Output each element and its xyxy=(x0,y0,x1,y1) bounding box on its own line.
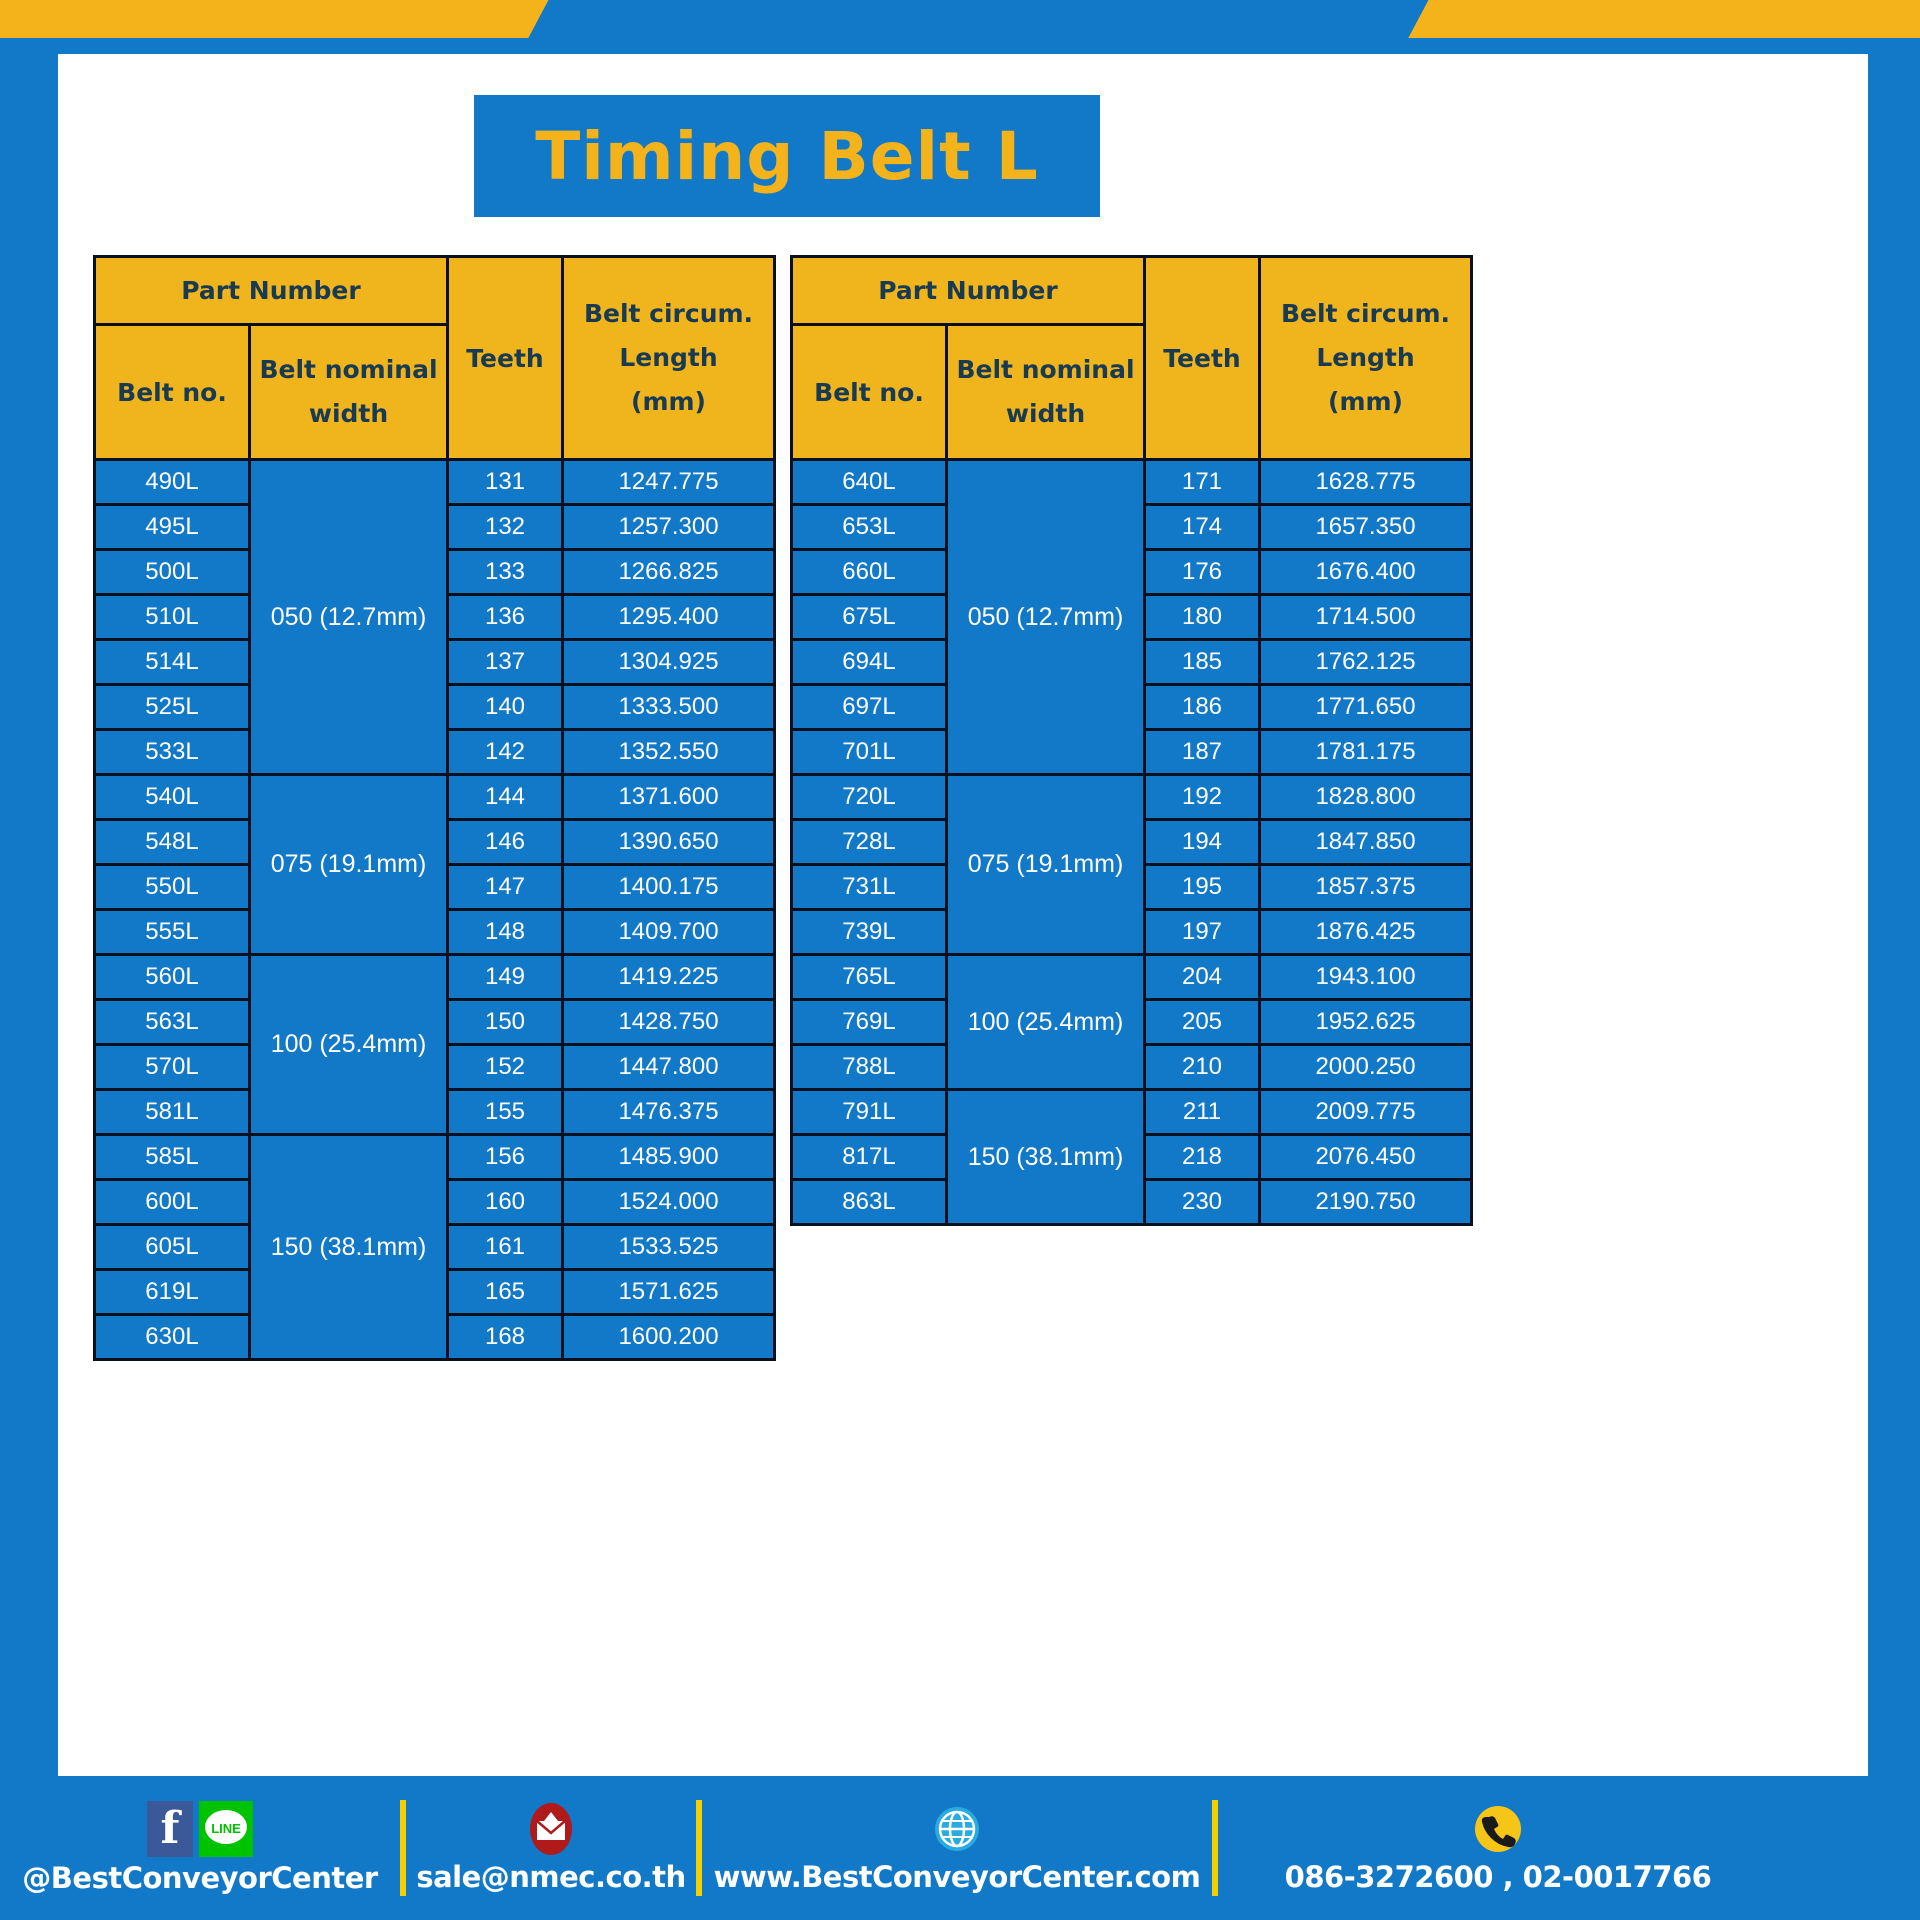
timing-belt-table-right: Part Number Teeth Belt circum. Length (m… xyxy=(790,255,1473,1226)
cell-teeth: 205 xyxy=(1145,1000,1260,1045)
cell-length: 1828.800 xyxy=(1260,775,1472,820)
cell-length: 1409.700 xyxy=(563,910,775,955)
cell-belt-nominal-width: 150 (38.1mm) xyxy=(947,1090,1145,1225)
cell-belt-no: 731L xyxy=(792,865,947,910)
cell-belt-no: 548L xyxy=(95,820,250,865)
cell-belt-nominal-width: 075 (19.1mm) xyxy=(947,775,1145,955)
cell-belt-no: 817L xyxy=(792,1135,947,1180)
cell-teeth: 150 xyxy=(448,1000,563,1045)
cell-belt-no: 555L xyxy=(95,910,250,955)
cell-teeth: 194 xyxy=(1145,820,1260,865)
email-icon[interactable] xyxy=(524,1802,578,1856)
top-chevron-decoration xyxy=(0,0,1920,50)
cell-length: 1943.100 xyxy=(1260,955,1472,1000)
cell-teeth: 186 xyxy=(1145,685,1260,730)
facebook-icon[interactable]: f xyxy=(147,1801,193,1857)
cell-length: 1257.300 xyxy=(563,505,775,550)
cell-teeth: 211 xyxy=(1145,1090,1260,1135)
cell-belt-no: 495L xyxy=(95,505,250,550)
cell-length: 1847.850 xyxy=(1260,820,1472,865)
poster-page: Timing Belt L Part Number Teeth Belt cir… xyxy=(0,0,1920,1920)
footer-social-group[interactable]: f LINE @BestConveyorCenter xyxy=(0,1801,400,1895)
table-right-body: 640L050 (12.7mm)1711628.775653L1741657.3… xyxy=(792,460,1472,1225)
cell-length: 1600.200 xyxy=(563,1315,775,1360)
header-belt-circum-line1: Belt circum. xyxy=(564,292,773,336)
social-handle-label: @BestConveyorCenter xyxy=(22,1861,377,1895)
cell-teeth: 210 xyxy=(1145,1045,1260,1090)
cell-belt-no: 563L xyxy=(95,1000,250,1045)
website-label: www.BestConveyorCenter.com xyxy=(714,1860,1201,1894)
cell-length: 1857.375 xyxy=(1260,865,1472,910)
cell-belt-nominal-width: 050 (12.7mm) xyxy=(947,460,1145,775)
cell-length: 1476.375 xyxy=(563,1090,775,1135)
header-belt-no: Belt no. xyxy=(792,325,947,460)
cell-length: 1628.775 xyxy=(1260,460,1472,505)
footer-contact-bar: f LINE @BestConveyorCenter sale@nmec xyxy=(0,1776,1920,1920)
table-row: 640L050 (12.7mm)1711628.775 xyxy=(792,460,1472,505)
cell-teeth: 192 xyxy=(1145,775,1260,820)
header-belt-nominal-line2: width xyxy=(251,392,446,436)
cell-belt-no: 619L xyxy=(95,1270,250,1315)
table-row: 585L150 (38.1mm)1561485.900 xyxy=(95,1135,775,1180)
table-row: 540L075 (19.1mm)1441371.600 xyxy=(95,775,775,820)
phone-label: 086-3272600 , 02-0017766 xyxy=(1285,1860,1712,1894)
cell-belt-no: 510L xyxy=(95,595,250,640)
cell-teeth: 197 xyxy=(1145,910,1260,955)
cell-length: 1781.175 xyxy=(1260,730,1472,775)
cell-belt-no: 581L xyxy=(95,1090,250,1135)
cell-teeth: 174 xyxy=(1145,505,1260,550)
cell-belt-no: 701L xyxy=(792,730,947,775)
cell-belt-no: 560L xyxy=(95,955,250,1000)
cell-belt-no: 600L xyxy=(95,1180,250,1225)
cell-teeth: 144 xyxy=(448,775,563,820)
header-teeth: Teeth xyxy=(448,257,563,460)
header-belt-circum: Belt circum. Length (mm) xyxy=(563,257,775,460)
cell-length: 1247.775 xyxy=(563,460,775,505)
cell-teeth: 171 xyxy=(1145,460,1260,505)
cell-belt-nominal-width: 150 (38.1mm) xyxy=(250,1135,448,1360)
cell-teeth: 155 xyxy=(448,1090,563,1135)
cell-length: 2009.775 xyxy=(1260,1090,1472,1135)
cell-teeth: 147 xyxy=(448,865,563,910)
cell-belt-no: 653L xyxy=(792,505,947,550)
cell-belt-no: 769L xyxy=(792,1000,947,1045)
cell-teeth: 133 xyxy=(448,550,563,595)
cell-teeth: 195 xyxy=(1145,865,1260,910)
cell-length: 1657.350 xyxy=(1260,505,1472,550)
header-belt-circum-line1: Belt circum. xyxy=(1261,292,1470,336)
header-belt-no: Belt no. xyxy=(95,325,250,460)
cell-length: 2000.250 xyxy=(1260,1045,1472,1090)
header-belt-circum: Belt circum. Length (mm) xyxy=(1260,257,1472,460)
cell-teeth: 176 xyxy=(1145,550,1260,595)
cell-length: 2076.450 xyxy=(1260,1135,1472,1180)
table-row: 791L150 (38.1mm)2112009.775 xyxy=(792,1090,1472,1135)
cell-length: 1428.750 xyxy=(563,1000,775,1045)
cell-length: 1447.800 xyxy=(563,1045,775,1090)
page-title-bar: Timing Belt L xyxy=(474,95,1100,217)
cell-length: 1952.625 xyxy=(1260,1000,1472,1045)
cell-teeth: 180 xyxy=(1145,595,1260,640)
header-belt-nominal-line1: Belt nominal xyxy=(251,348,446,392)
header-belt-circum-line3: (mm) xyxy=(1261,380,1470,424)
table-row: 560L100 (25.4mm)1491419.225 xyxy=(95,955,775,1000)
cell-belt-no: 514L xyxy=(95,640,250,685)
cell-belt-no: 570L xyxy=(95,1045,250,1090)
cell-teeth: 168 xyxy=(448,1315,563,1360)
footer-phone-group[interactable]: 086-3272600 , 02-0017766 xyxy=(1218,1802,1778,1894)
table-header-row-top: Part Number Teeth Belt circum. Length (m… xyxy=(95,257,775,325)
footer-website-group[interactable]: www.BestConveyorCenter.com xyxy=(702,1802,1212,1894)
cell-length: 1400.175 xyxy=(563,865,775,910)
line-icon[interactable]: LINE xyxy=(199,1801,253,1857)
cell-teeth: 149 xyxy=(448,955,563,1000)
cell-length: 1352.550 xyxy=(563,730,775,775)
cell-teeth: 140 xyxy=(448,685,563,730)
table-row: 765L100 (25.4mm)2041943.100 xyxy=(792,955,1472,1000)
cell-teeth: 152 xyxy=(448,1045,563,1090)
cell-belt-nominal-width: 075 (19.1mm) xyxy=(250,775,448,955)
cell-belt-nominal-width: 050 (12.7mm) xyxy=(250,460,448,775)
table-row: 490L050 (12.7mm)1311247.775 xyxy=(95,460,775,505)
svg-text:LINE: LINE xyxy=(211,1821,241,1836)
header-belt-nominal-line1: Belt nominal xyxy=(948,348,1143,392)
cell-length: 1524.000 xyxy=(563,1180,775,1225)
phone-icon[interactable] xyxy=(1471,1802,1525,1856)
cell-length: 1333.500 xyxy=(563,685,775,730)
cell-teeth: 146 xyxy=(448,820,563,865)
cell-length: 1571.625 xyxy=(563,1270,775,1315)
cell-teeth: 161 xyxy=(448,1225,563,1270)
cell-teeth: 148 xyxy=(448,910,563,955)
cell-belt-no: 863L xyxy=(792,1180,947,1225)
table-row: 720L075 (19.1mm)1921828.800 xyxy=(792,775,1472,820)
globe-icon[interactable] xyxy=(930,1802,984,1856)
cell-length: 1876.425 xyxy=(1260,910,1472,955)
cell-teeth: 136 xyxy=(448,595,563,640)
cell-length: 1714.500 xyxy=(1260,595,1472,640)
header-belt-nominal-width: Belt nominal width xyxy=(947,325,1145,460)
cell-belt-no: 630L xyxy=(95,1315,250,1360)
cell-length: 1419.225 xyxy=(563,955,775,1000)
cell-belt-no: 500L xyxy=(95,550,250,595)
cell-length: 1371.600 xyxy=(563,775,775,820)
cell-belt-no: 525L xyxy=(95,685,250,730)
cell-teeth: 230 xyxy=(1145,1180,1260,1225)
cell-belt-no: 585L xyxy=(95,1135,250,1180)
cell-teeth: 132 xyxy=(448,505,563,550)
cell-belt-no: 720L xyxy=(792,775,947,820)
cell-belt-no: 490L xyxy=(95,460,250,505)
cell-length: 1771.650 xyxy=(1260,685,1472,730)
footer-email-group[interactable]: sale@nmec.co.th xyxy=(406,1802,696,1894)
header-part-number: Part Number xyxy=(792,257,1145,325)
cell-teeth: 165 xyxy=(448,1270,563,1315)
cell-teeth: 204 xyxy=(1145,955,1260,1000)
cell-teeth: 185 xyxy=(1145,640,1260,685)
cell-belt-no: 788L xyxy=(792,1045,947,1090)
cell-length: 1295.400 xyxy=(563,595,775,640)
cell-belt-no: 540L xyxy=(95,775,250,820)
cell-length: 1533.525 xyxy=(563,1225,775,1270)
cell-length: 1676.400 xyxy=(1260,550,1472,595)
page-title: Timing Belt L xyxy=(535,118,1039,195)
header-part-number: Part Number xyxy=(95,257,448,325)
cell-belt-no: 533L xyxy=(95,730,250,775)
cell-belt-nominal-width: 100 (25.4mm) xyxy=(947,955,1145,1090)
cell-belt-no: 660L xyxy=(792,550,947,595)
social-icons: f LINE xyxy=(147,1801,253,1857)
cell-teeth: 137 xyxy=(448,640,563,685)
table-left-body: 490L050 (12.7mm)1311247.775495L1321257.3… xyxy=(95,460,775,1360)
header-belt-nominal-line2: width xyxy=(948,392,1143,436)
cell-length: 2190.750 xyxy=(1260,1180,1472,1225)
table-header-row-top: Part Number Teeth Belt circum. Length (m… xyxy=(792,257,1472,325)
cell-length: 1390.650 xyxy=(563,820,775,865)
cell-belt-no: 675L xyxy=(792,595,947,640)
header-belt-nominal-width: Belt nominal width xyxy=(250,325,448,460)
cell-belt-no: 605L xyxy=(95,1225,250,1270)
cell-belt-no: 640L xyxy=(792,460,947,505)
cell-teeth: 187 xyxy=(1145,730,1260,775)
cell-length: 1762.125 xyxy=(1260,640,1472,685)
cell-belt-no: 739L xyxy=(792,910,947,955)
email-label: sale@nmec.co.th xyxy=(416,1860,685,1894)
header-belt-circum-line2: Length xyxy=(1261,336,1470,380)
cell-length: 1266.825 xyxy=(563,550,775,595)
cell-belt-nominal-width: 100 (25.4mm) xyxy=(250,955,448,1135)
header-belt-circum-line3: (mm) xyxy=(564,380,773,424)
cell-teeth: 218 xyxy=(1145,1135,1260,1180)
header-belt-circum-line2: Length xyxy=(564,336,773,380)
cell-length: 1485.900 xyxy=(563,1135,775,1180)
header-teeth: Teeth xyxy=(1145,257,1260,460)
cell-belt-no: 550L xyxy=(95,865,250,910)
cell-teeth: 156 xyxy=(448,1135,563,1180)
cell-teeth: 142 xyxy=(448,730,563,775)
cell-teeth: 131 xyxy=(448,460,563,505)
cell-belt-no: 728L xyxy=(792,820,947,865)
cell-teeth: 160 xyxy=(448,1180,563,1225)
cell-belt-no: 791L xyxy=(792,1090,947,1135)
cell-belt-no: 765L xyxy=(792,955,947,1000)
cell-belt-no: 697L xyxy=(792,685,947,730)
timing-belt-table-left: Part Number Teeth Belt circum. Length (m… xyxy=(93,255,776,1361)
cell-belt-no: 694L xyxy=(792,640,947,685)
cell-length: 1304.925 xyxy=(563,640,775,685)
